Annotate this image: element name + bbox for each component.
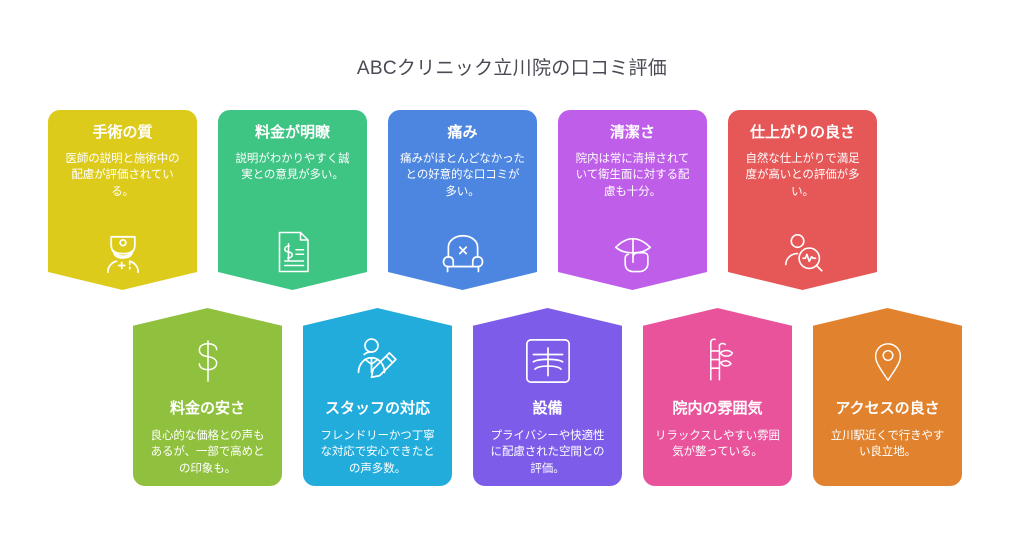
card-description: プライバシーや快適性に配慮された空間との評価。 [485,428,610,478]
review-card-pain[interactable]: 痛み痛みがほとんどなかったとの好意的な口コミが多い。 [388,110,537,290]
card-title: 手術の質 [60,124,185,143]
page-title: ABCクリニック立川院の口コミ評価 [0,53,1024,80]
review-card-facilities[interactable]: 設備プライバシーや快適性に配慮された空間との評価。 [473,308,622,486]
review-card-affordable-price[interactable]: 料金の安さ良心的な価格との声もあるが、一部で高めとの印象も。 [133,308,282,486]
invoice-document-icon [218,222,367,282]
surgeon-icon [48,222,197,282]
card-description: 良心的な価格との声もあるが、一部で高めとの印象も。 [145,428,270,478]
armchair-icon [388,222,537,282]
cleaning-hand-icon [558,222,707,282]
review-card-clear-pricing[interactable]: 料金が明瞭説明がわかりやすく誠実との意見が多い。 [218,110,367,290]
person-pencil-icon [303,330,452,392]
review-card-clinic-atmosphere[interactable]: 院内の雰囲気リラックスしやすい雰囲気が整っている。 [643,308,792,486]
card-title: 料金の安さ [145,400,270,419]
card-description: 自然な仕上がりで満足度が高いとの評価が多い。 [740,151,865,201]
card-title: 院内の雰囲気 [655,400,780,419]
card-title: 痛み [400,124,525,143]
card-title: アクセスの良さ [825,400,950,419]
review-card-accessibility[interactable]: アクセスの良さ立川駅近くで行きやすい良立地。 [813,308,962,486]
card-description: 医師の説明と施術中の配慮が評価されている。 [60,151,185,201]
review-card-finish-quality[interactable]: 仕上がりの良さ自然な仕上がりで満足度が高いとの評価が多い。 [728,110,877,290]
review-card-cleanliness[interactable]: 清潔さ院内は常に清掃されていて衛生面に対する配慮も十分。 [558,110,707,290]
review-card-staff-service[interactable]: スタッフの対応フレンドリーかつ丁寧な対応で安心できたとの声多数。 [303,308,452,486]
card-title: スタッフの対応 [315,400,440,419]
card-title: 料金が明瞭 [230,124,355,143]
card-description: 説明がわかりやすく誠実との意見が多い。 [230,151,355,184]
card-description: リラックスしやすい雰囲気が整っている。 [655,428,780,461]
bamboo-plant-icon [643,330,792,392]
card-title: 仕上がりの良さ [740,124,865,143]
review-card-surgery-quality[interactable]: 手術の質医師の説明と施術中の配慮が評価されている。 [48,110,197,290]
card-description: 痛みがほとんどなかったとの好意的な口コミが多い。 [400,151,525,201]
card-title: 清潔さ [570,124,695,143]
person-magnifier-icon [728,222,877,282]
dollar-sign-icon [133,330,282,392]
card-description: 立川駅近くで行きやすい良立地。 [825,428,950,461]
card-description: 院内は常に清掃されていて衛生面に対する配慮も十分。 [570,151,695,201]
card-description: フレンドリーかつ丁寧な対応で安心できたとの声多数。 [315,428,440,478]
framed-facility-icon [473,330,622,392]
map-pin-icon [813,330,962,392]
card-title: 設備 [485,400,610,419]
